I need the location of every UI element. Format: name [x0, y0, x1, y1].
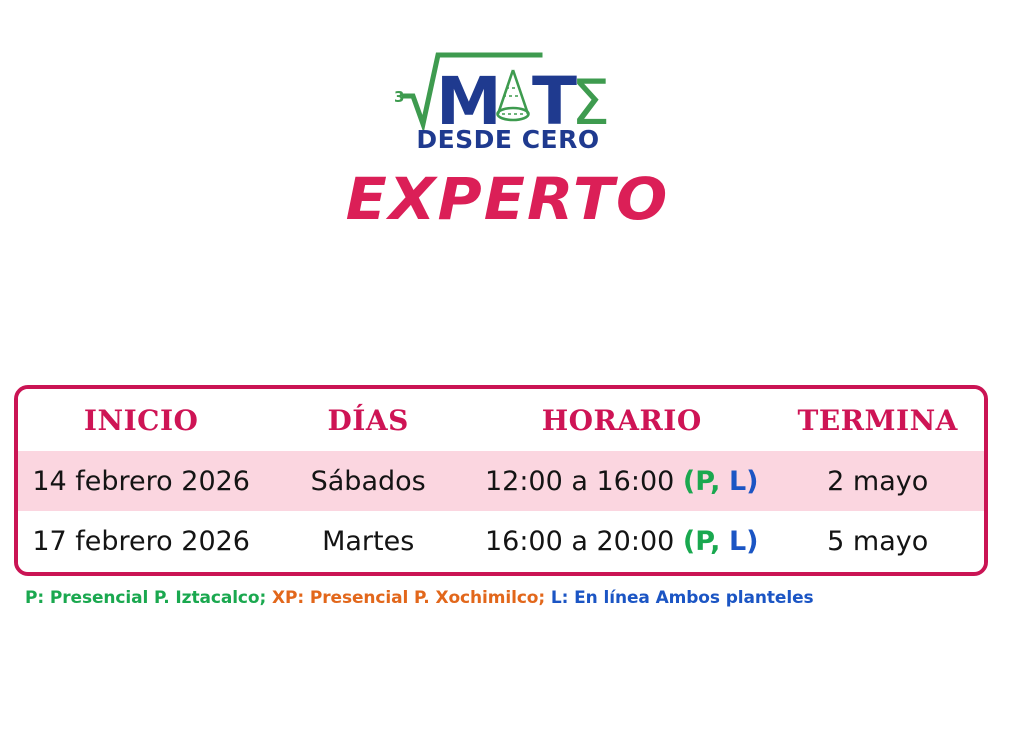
modality-legend: P: Presencial P. Iztacalco; XP: Presenci…: [25, 588, 814, 608]
modality-tag-l: L: [729, 466, 746, 497]
logo-artwork: 3 M T Σ DESDE CERO: [390, 52, 626, 152]
table-row: 14 febrero 2026 Sábados 12:00 a 16:00 (P…: [18, 451, 984, 511]
cell-horario: 12:00 a 16:00 (P, L): [472, 451, 771, 511]
table-header-row: INICIO DÍAS HORARIO TERMINA: [18, 389, 984, 451]
horario-comma: ,: [710, 526, 720, 557]
cone-icon: [497, 70, 528, 120]
horario-time: 16:00 a 20:00: [485, 526, 674, 557]
horario-comma: ,: [710, 466, 720, 497]
cell-termina: 5 mayo: [771, 511, 984, 571]
horario-open-paren: (: [683, 526, 695, 557]
cell-dias: Sábados: [264, 451, 472, 511]
horario-open-paren: (: [683, 466, 695, 497]
table-row: 17 febrero 2026 Martes 16:00 a 20:00 (P,…: [18, 511, 984, 571]
horario-time: 12:00 a 16:00: [485, 466, 674, 497]
schedule-table: INICIO DÍAS HORARIO TERMINA 14 febrero 2…: [18, 389, 984, 571]
column-header-inicio: INICIO: [18, 389, 264, 451]
cell-horario: 16:00 a 20:00 (P, L): [472, 511, 771, 571]
cell-inicio: 17 febrero 2026: [18, 511, 264, 571]
column-header-horario: HORARIO: [472, 389, 771, 451]
modality-tag-l: L: [729, 526, 746, 557]
horario-close-paren: ): [746, 526, 758, 557]
brand-logo: 3 M T Σ DESDE CERO: [0, 52, 1015, 152]
cell-dias: Martes: [264, 511, 472, 571]
schedule-table-card: INICIO DÍAS HORARIO TERMINA 14 febrero 2…: [14, 385, 988, 576]
modality-tag-p: P: [695, 526, 710, 557]
column-header-termina: TERMINA: [771, 389, 984, 451]
cell-inicio: 14 febrero 2026: [18, 451, 264, 511]
legend-item-presencial-xochimilco: XP: Presencial P. Xochimilco;: [272, 588, 545, 608]
logo-tagline: DESDE CERO: [416, 125, 599, 152]
page-title: EXPERTO: [0, 168, 1015, 230]
modality-tag-p: P: [695, 466, 710, 497]
legend-item-en-linea: L: En línea Ambos planteles: [551, 588, 814, 608]
horario-close-paren: ): [746, 466, 758, 497]
legend-item-presencial-iztacalco: P: Presencial P. Iztacalco;: [25, 588, 266, 608]
column-header-dias: DÍAS: [264, 389, 472, 451]
cell-termina: 2 mayo: [771, 451, 984, 511]
